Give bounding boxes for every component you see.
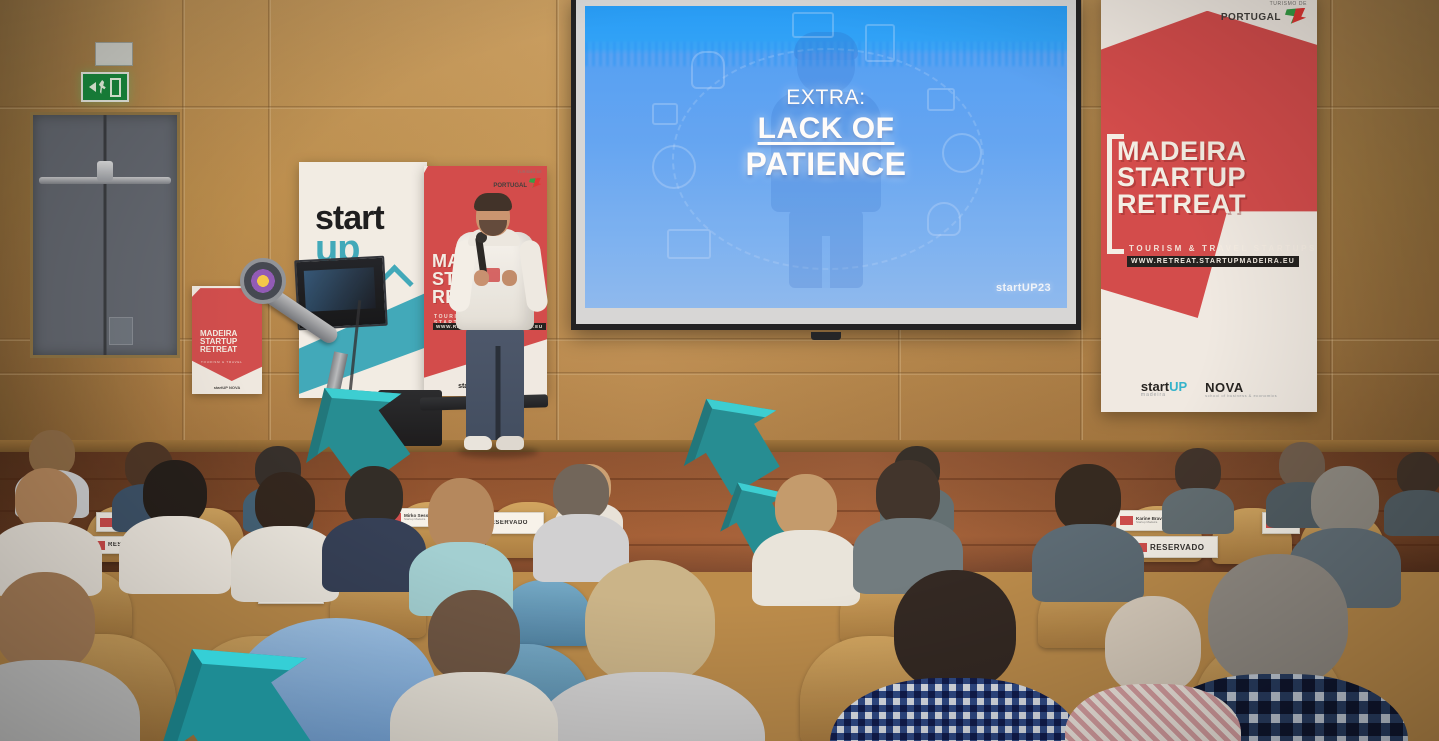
audience-member <box>330 466 418 574</box>
projection-screen: EXTRA: LACK OF PATIENCE startUP23 <box>571 0 1081 330</box>
audience-member <box>860 460 956 574</box>
banner-sponsor-logos: startUP madeira NOVA school of business … <box>1101 380 1317 398</box>
audience-member <box>240 472 330 582</box>
conference-photo: EXTRA: LACK OF PATIENCE startUP23 TURISM… <box>0 0 1439 741</box>
banner-url: WWW.RETREAT.STARTUPMADEIRA.EU <box>1127 256 1299 267</box>
reserved-label: RESERVADO <box>1150 543 1204 552</box>
portugal-flag-icon <box>1285 8 1307 24</box>
emergency-door[interactable] <box>30 112 180 358</box>
rollup-banner-madeira-startup-retreat: TURISMO DE PORTUGAL MADEIRA STARTUP RETR… <box>1101 0 1317 412</box>
slide-line-3: PATIENCE <box>585 146 1067 184</box>
bars-icon <box>792 12 834 38</box>
audience-member <box>404 590 544 741</box>
audience-member-foreground <box>860 570 1050 741</box>
audience-member <box>760 474 852 586</box>
banner-title-line-3: RETREAT <box>1117 191 1247 217</box>
bar-chart-icon <box>667 229 711 259</box>
screen-mount <box>811 332 841 340</box>
emergency-exit-icon <box>81 72 129 102</box>
slide-line-2: LACK OF <box>585 111 1067 146</box>
startup-madeira-logo: startUP madeira <box>1141 380 1187 398</box>
wall-sign-box <box>95 42 133 66</box>
rollup-banner-madeira-far-left: MADEIRA STARTUP RETREAT TOURISM & TRAVEL… <box>192 286 262 394</box>
sponsor-name-small: PORTUGAL <box>493 183 527 189</box>
sponsor-name: PORTUGAL <box>1221 12 1281 23</box>
nova-sbe-logo: NOVA school of business & economics <box>1205 381 1277 398</box>
turismo-portugal-logo-small: TURISMO DE PORTUGAL <box>493 170 542 192</box>
audience-member <box>1390 452 1439 520</box>
banner-title-tiny: MADEIRA STARTUP RETREAT <box>200 330 237 354</box>
banner-title: MADEIRA STARTUP RETREAT <box>1117 138 1247 217</box>
portugal-flag-icon-small <box>529 178 542 188</box>
audience-member <box>1078 596 1228 741</box>
patterned-top <box>1065 684 1241 741</box>
audience-member <box>414 478 508 594</box>
tiny-line-3: RETREAT <box>200 346 237 354</box>
nova-logo-sub: school of business & economics <box>1205 394 1277 398</box>
banner-title-line-2: STARTUP <box>1117 164 1247 190</box>
camera-light-icon <box>240 258 286 304</box>
audience-member <box>1168 448 1228 518</box>
speaker-hand-left <box>474 270 489 286</box>
audience-member-foreground <box>560 560 740 741</box>
audience-member <box>1040 464 1136 580</box>
banner-logos-tiny: startUP NOVA <box>192 385 262 390</box>
door-handle-icon[interactable] <box>97 161 113 181</box>
audience-member-foreground <box>0 572 120 741</box>
banner-tagline: TOURISM & TRAVEL STARTUPS <box>1129 244 1317 253</box>
turismo-portugal-logo: TURISMO DE PORTUGAL <box>1221 1 1307 25</box>
slide-headline: EXTRA: LACK OF PATIENCE <box>585 85 1067 184</box>
door-split <box>104 115 107 355</box>
plant-icon <box>927 202 961 236</box>
audience-member <box>128 460 222 572</box>
banner-title-line-1: MADEIRA <box>1117 138 1247 164</box>
banner-tagline-tiny: TOURISM & TRAVEL <box>201 360 243 364</box>
checkered-shirt <box>830 678 1080 741</box>
hourglass-icon <box>865 24 895 62</box>
door-plate <box>109 317 133 345</box>
slide-watermark: startUP23 <box>996 282 1051 294</box>
audience-member <box>0 468 92 578</box>
speaker-hand-right <box>502 270 517 286</box>
slide-line-1: EXTRA: <box>585 85 1067 111</box>
audience-member <box>540 464 622 568</box>
slide-content: EXTRA: LACK OF PATIENCE startUP23 <box>585 6 1067 308</box>
